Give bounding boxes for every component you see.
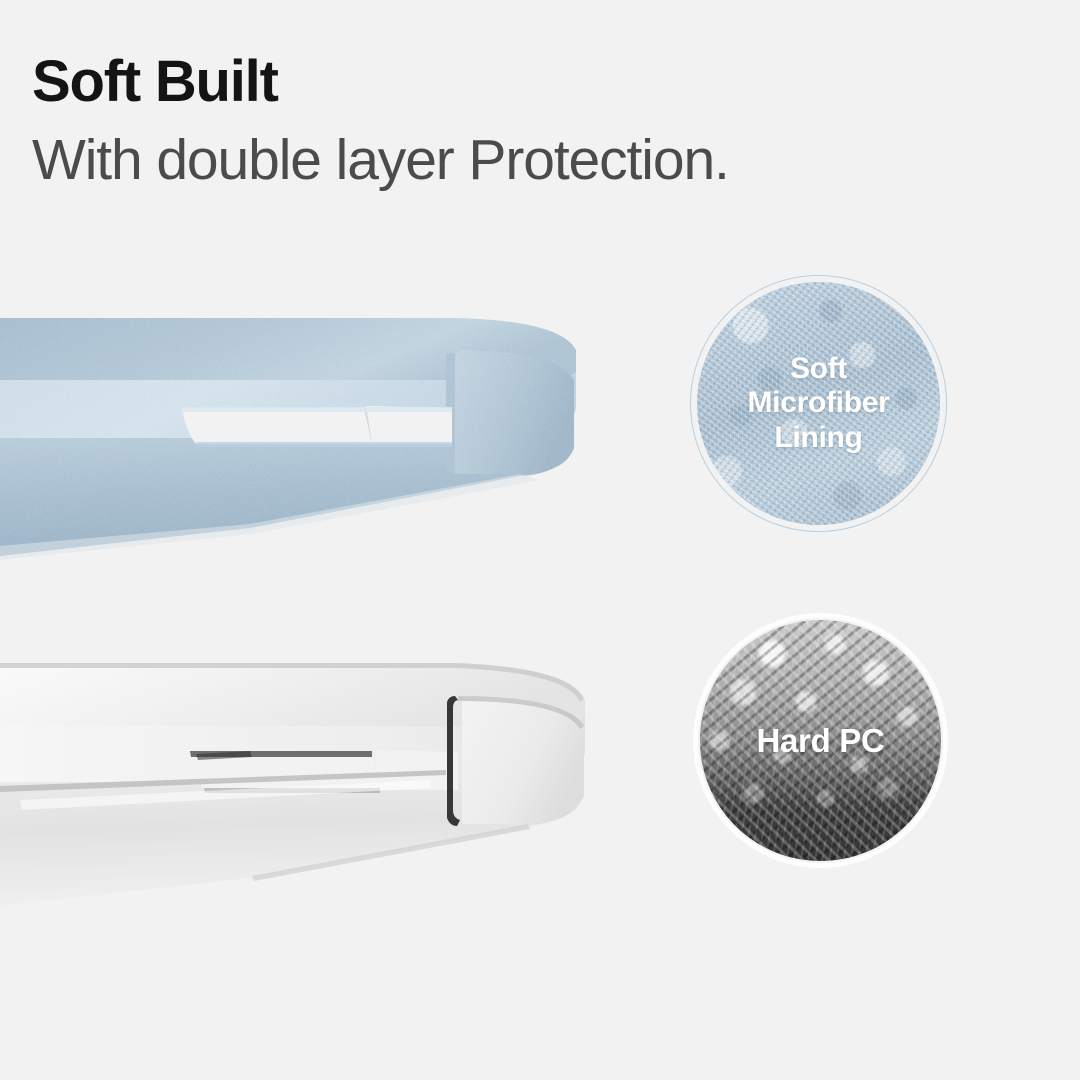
callout-microfiber-line-2: Microfiber (747, 386, 889, 420)
clear-pc-case-corner (0, 630, 630, 930)
blue-microfiber-lined-case-corner (0, 288, 620, 588)
page-title: Soft Built (32, 52, 278, 112)
callout-hard-pc: Hard PC (700, 620, 941, 861)
product-feature-graphic: Soft Built With double layer Protection. (0, 0, 1080, 1080)
callout-microfiber-line-1: Soft (747, 352, 889, 386)
page-subtitle: With double layer Protection. (32, 131, 729, 191)
callout-hardpc-label: Hard PC (756, 722, 884, 760)
callout-microfiber-line-3: Lining (747, 421, 889, 455)
callout-hardpc-line-1: Hard PC (756, 722, 884, 760)
callout-soft-microfiber-lining: Soft Microfiber Lining (697, 282, 940, 525)
callout-microfiber-label: Soft Microfiber Lining (747, 352, 889, 455)
